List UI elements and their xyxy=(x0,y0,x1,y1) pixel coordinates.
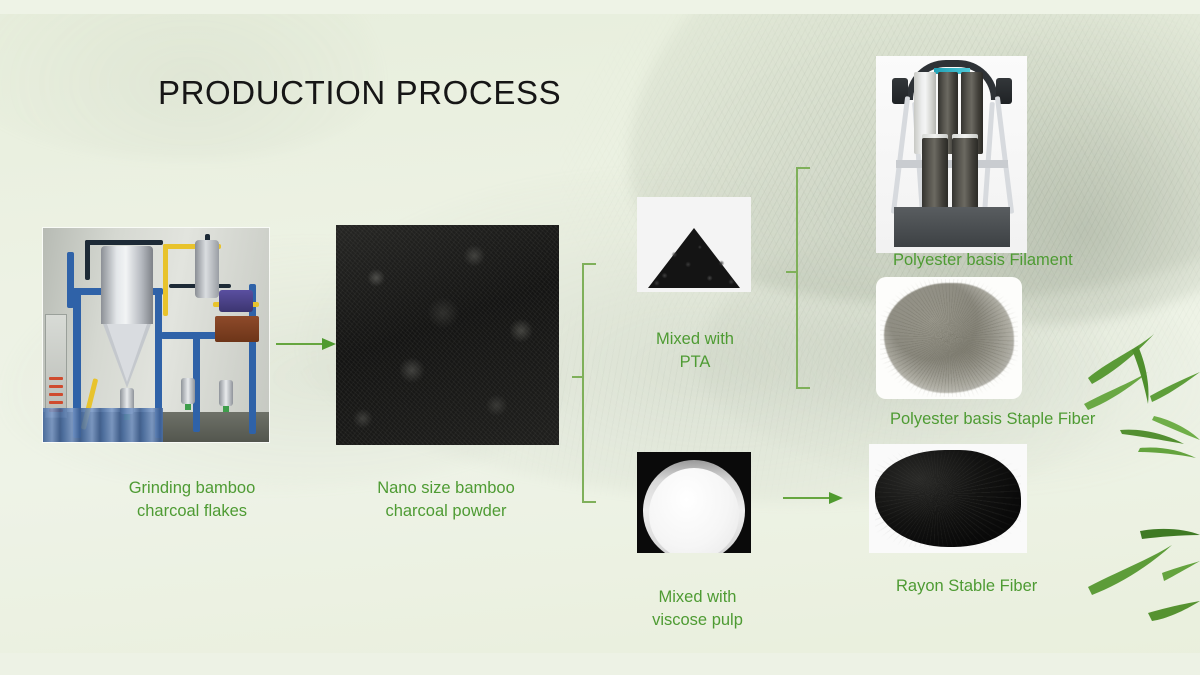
grinding-machine-photo xyxy=(43,228,269,442)
bamboo-leaves-right-icon xyxy=(1080,320,1200,460)
page-title: PRODUCTION PROCESS xyxy=(158,74,561,112)
caption-polyester-basis-staple-fiber: Polyester basis Staple Fiber xyxy=(890,408,1095,431)
polyester-filament-creel-photo xyxy=(876,56,1027,253)
pta-pellets-photo xyxy=(637,197,751,292)
bamboo-leaves-bottom-right-icon xyxy=(1070,525,1200,655)
arrow-grinding-to-powder xyxy=(276,334,338,354)
caption-mixed-with-pta: Mixed with PTA xyxy=(640,328,750,374)
caption-mixed-with-viscose-pulp: Mixed with viscose pulp xyxy=(640,586,755,632)
rayon-stable-fiber-photo xyxy=(869,444,1027,553)
bracket-powder-split xyxy=(572,262,602,504)
arrow-viscose-to-rayon xyxy=(783,488,845,508)
caption-grinding-bamboo-charcoal-flakes: Grinding bamboo charcoal flakes xyxy=(92,477,292,523)
polyester-staple-fiber-photo xyxy=(876,277,1022,399)
bracket-pta-split xyxy=(786,166,816,390)
caption-polyester-basis-filament: Polyester basis Filament xyxy=(893,249,1073,272)
caption-nano-size-bamboo-charcoal-powder: Nano size bamboo charcoal powder xyxy=(346,477,546,523)
caption-rayon-stable-fiber: Rayon Stable Fiber xyxy=(896,575,1037,598)
viscose-pulp-photo xyxy=(637,452,751,553)
nano-charcoal-powder-photo xyxy=(336,225,559,445)
slide-canvas: PRODUCTION PROCESS xyxy=(0,0,1200,675)
